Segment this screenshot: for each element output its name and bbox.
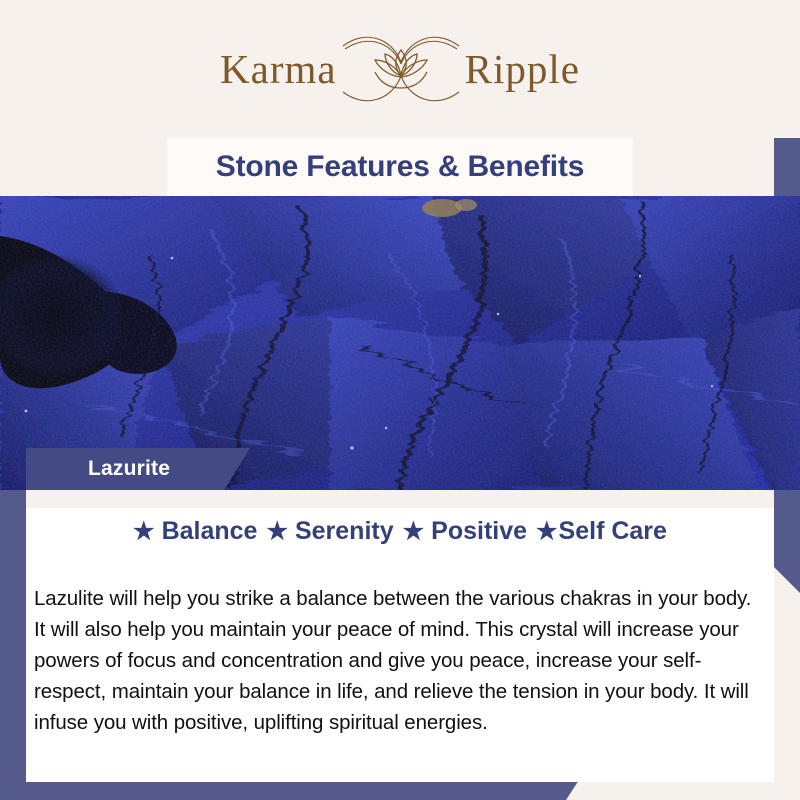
- frame-band-right-lower: [774, 488, 800, 593]
- brand-name-right: Ripple: [465, 49, 580, 90]
- stone-photo: [0, 196, 800, 490]
- stone-photo-graphic: [0, 196, 800, 490]
- frame-band-left-lower: [0, 488, 26, 800]
- keyword-label: Balance: [162, 517, 258, 546]
- poster-canvas: Lazurite Karma: [0, 0, 800, 800]
- page-title: Stone Features & Benefits: [216, 150, 584, 184]
- stone-name-tag: Lazurite: [26, 448, 250, 490]
- keyword-label: Serenity: [295, 517, 394, 546]
- star-icon: ★: [536, 520, 558, 544]
- panel-top-strip: [26, 490, 774, 508]
- brand-name-left: Karma: [220, 49, 337, 90]
- keyword-list: ★ Balance ★ Serenity ★ Positive ★ Self C…: [26, 517, 774, 546]
- lotus-flourish-icon: [341, 32, 461, 106]
- header: Karma Ripple: [0, 0, 800, 138]
- keyword-label: Self Care: [559, 517, 667, 546]
- stone-name-label: Lazurite: [26, 457, 170, 481]
- keyword-label: Positive: [431, 517, 527, 546]
- keyword-item-serenity: ★ Serenity: [266, 517, 393, 546]
- keyword-item-self-care: ★ Self Care: [536, 517, 667, 546]
- star-icon: ★: [266, 520, 288, 544]
- title-strip: Stone Features & Benefits: [167, 138, 633, 196]
- keyword-item-positive: ★ Positive: [403, 517, 527, 546]
- content-panel: ★ Balance ★ Serenity ★ Positive ★ Self C…: [26, 490, 774, 782]
- star-icon: ★: [133, 520, 155, 544]
- keyword-item-balance: ★ Balance: [133, 517, 257, 546]
- star-icon: ★: [403, 520, 425, 544]
- stone-description: Lazulite will help you strike a balance …: [34, 583, 758, 739]
- brand-logo: Karma Ripple: [0, 32, 800, 106]
